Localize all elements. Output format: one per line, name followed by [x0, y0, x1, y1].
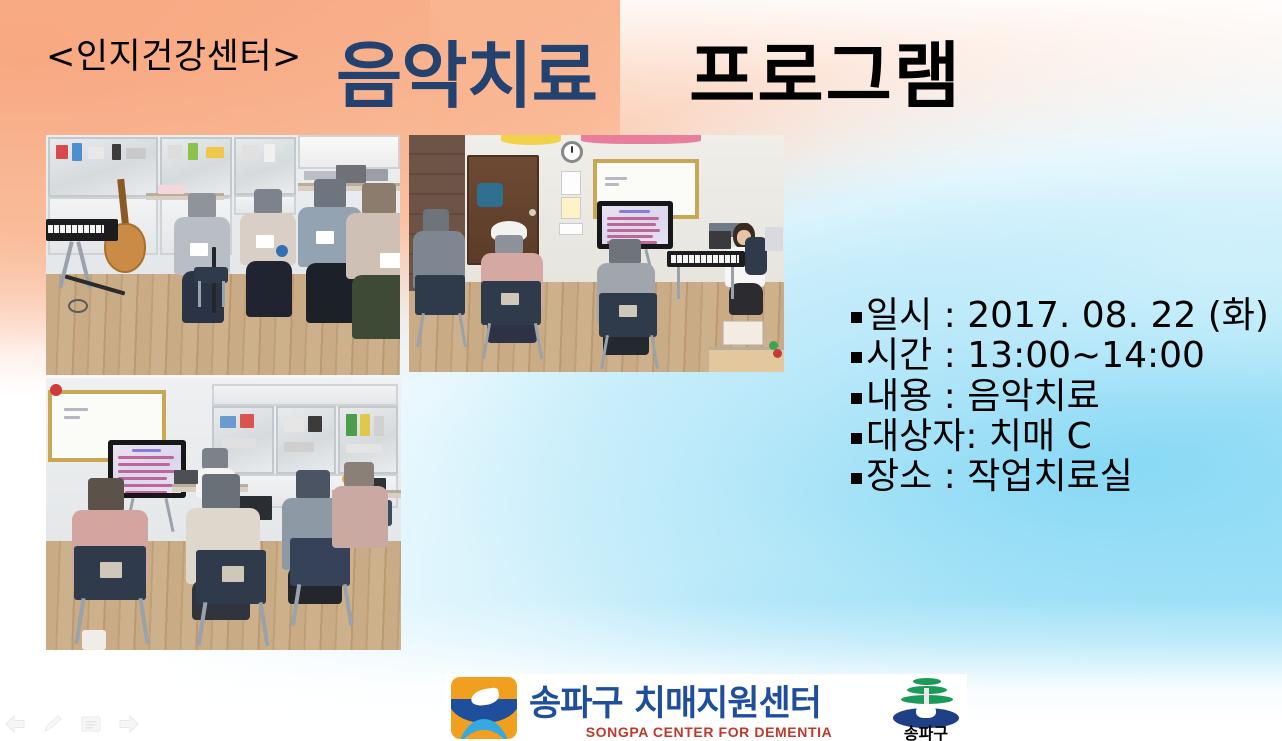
list-item-text: 일시 : 2017. 08. 22 (화) [866, 296, 1269, 336]
photo-participants-screen [46, 378, 401, 650]
bullet-square-icon [851, 312, 862, 323]
list-item: 일시 : 2017. 08. 22 (화) [851, 296, 1271, 336]
bullet-square-icon [851, 433, 862, 444]
footer-logo: 송파구 치매지원센터 SONGPA CENTER FOR DEMENTIA 송파… [445, 674, 967, 741]
next-slide-icon[interactable] [118, 714, 140, 734]
title-secondary: 프로그램 [689, 34, 962, 118]
menu-icon[interactable] [80, 714, 102, 734]
list-item-text: 장소 : 작업치료실 [866, 457, 1133, 497]
title-primary: 음악치료 [336, 34, 597, 118]
list-item: 장소 : 작업치료실 [851, 457, 1271, 497]
list-item: 내용 : 음악치료 [851, 377, 1271, 417]
bullet-square-icon [851, 352, 862, 363]
slide-header: <인지건강센터> 음악치료 프로그램 [0, 0, 1282, 132]
page-title: 음악치료 프로그램 [336, 40, 962, 112]
list-item: 시간 : 13:00~14:00 [851, 336, 1271, 376]
bullet-square-icon [851, 473, 862, 484]
list-item-text: 시간 : 13:00~14:00 [866, 336, 1205, 376]
presentation-nav-toolbar[interactable] [4, 714, 140, 734]
pen-icon[interactable] [42, 714, 64, 734]
logo-english-name: SONGPA CENTER FOR DEMENTIA [529, 724, 889, 740]
bullet-square-icon [851, 393, 862, 404]
program-details-list: 일시 : 2017. 08. 22 (화) 시간 : 13:00~14:00 내… [851, 296, 1271, 498]
photo-instructor-keyboard [409, 135, 784, 372]
previous-slide-icon[interactable] [4, 714, 26, 734]
logo-korean-name: 송파구 치매지원센터 [529, 675, 889, 726]
list-item-text: 대상자: 치매 C [866, 417, 1092, 457]
songpa-gu-emblem-icon: 송파구 [889, 676, 963, 740]
logo-text-block: 송파구 치매지원센터 SONGPA CENTER FOR DEMENTIA [529, 675, 889, 740]
photo-group-seated-circle [46, 135, 400, 375]
center-name-label: <인지건강센터> [46, 28, 302, 79]
emblem-label: 송파구 [889, 720, 963, 741]
list-item-text: 내용 : 음악치료 [866, 377, 1100, 417]
list-item: 대상자: 치매 C [851, 417, 1271, 457]
presentation-slide: <인지건강센터> 음악치료 프로그램 [0, 0, 1282, 741]
songpa-dementia-logo-icon [451, 677, 517, 739]
